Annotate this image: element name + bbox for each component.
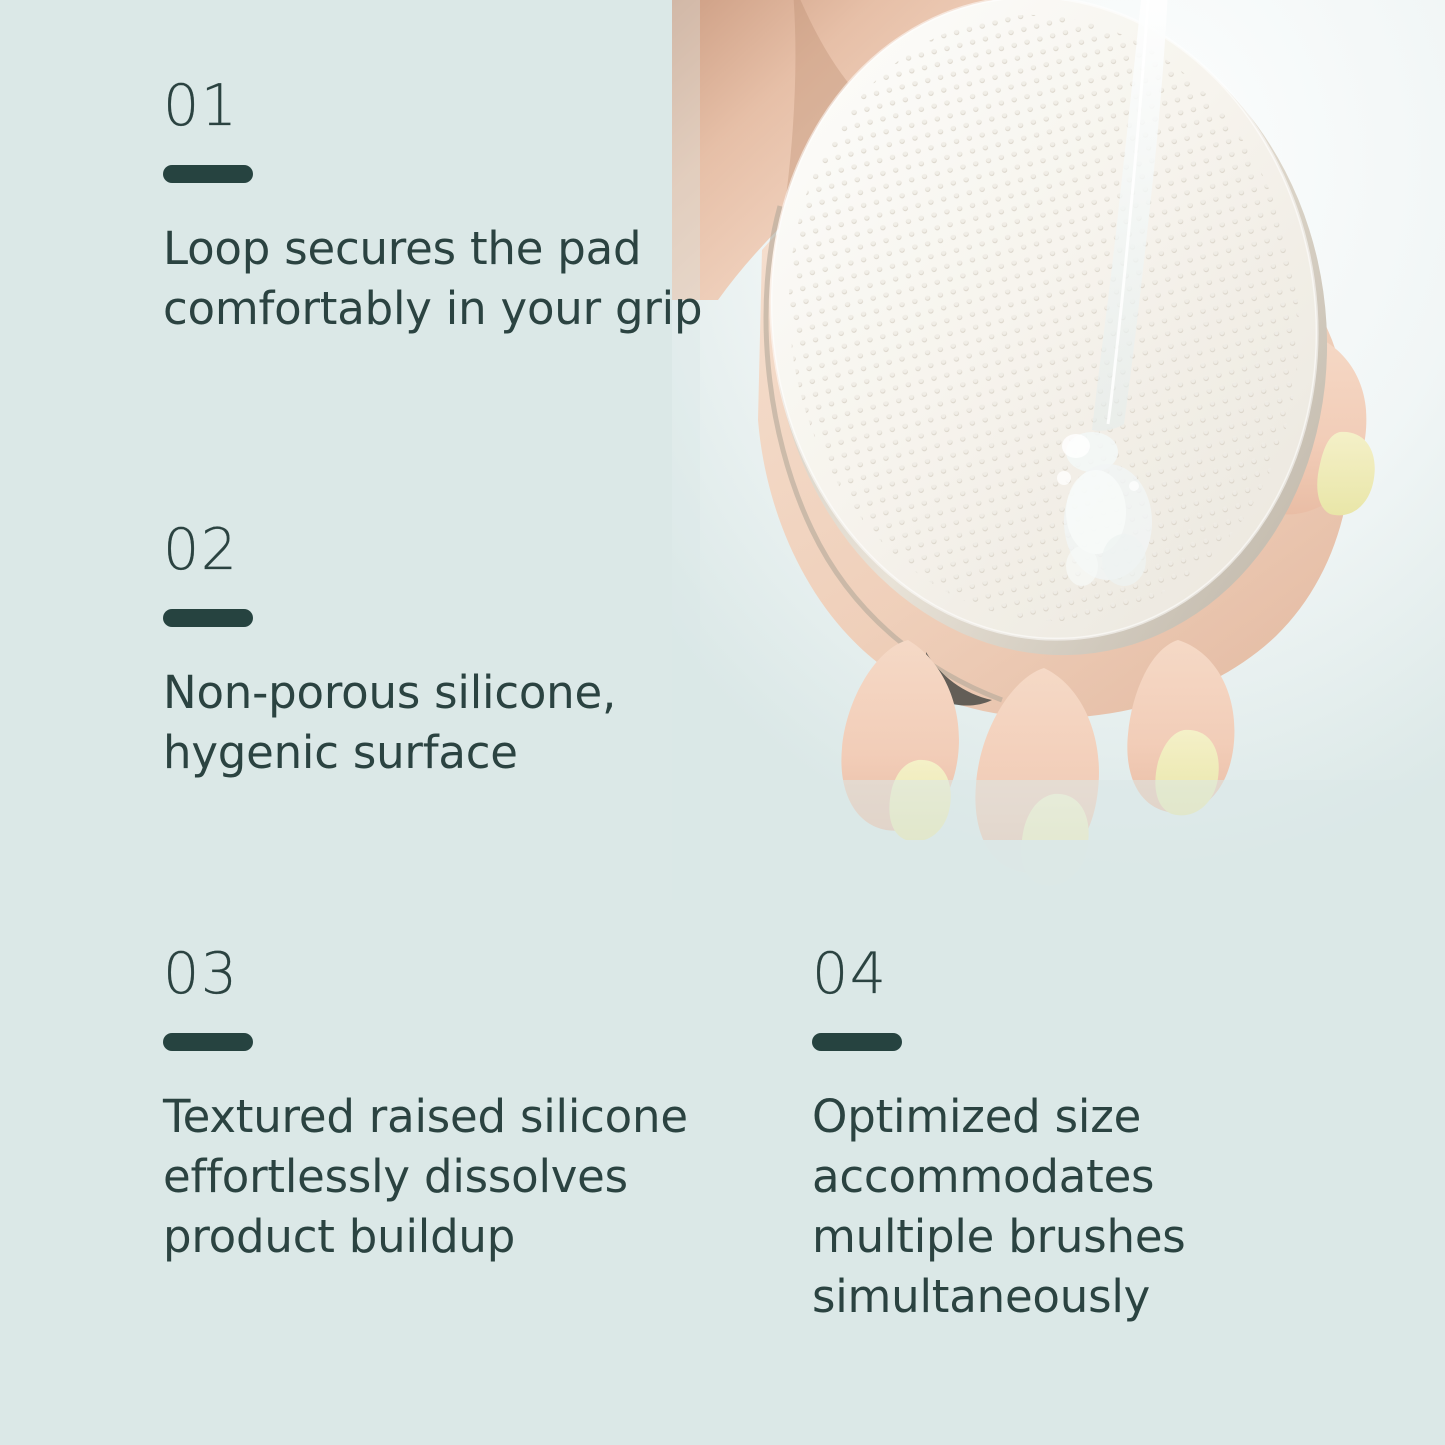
feature-divider-02 bbox=[163, 609, 253, 627]
infographic-canvas: 01 Loop secures the pad comfortably in y… bbox=[0, 0, 1445, 1445]
feature-number-01: 01 bbox=[163, 78, 703, 135]
feature-text-02: Non-porous silicone, hygenic surface bbox=[163, 663, 703, 783]
feature-number-03: 03 bbox=[163, 946, 723, 1003]
product-photo bbox=[672, 0, 1445, 900]
product-photo-illustration bbox=[672, 0, 1445, 900]
feature-text-01: Loop secures the pad comfortably in your… bbox=[163, 219, 703, 339]
feature-block-02: 02 Non-porous silicone, hygenic surface bbox=[163, 522, 703, 783]
feature-text-04: Optimized size accommodates multiple bru… bbox=[812, 1087, 1312, 1326]
feature-text-03: Textured raised silicone effortlessly di… bbox=[163, 1087, 723, 1267]
feature-divider-03 bbox=[163, 1033, 253, 1051]
feature-block-04: 04 Optimized size accommodates multiple … bbox=[812, 946, 1312, 1326]
feature-number-02: 02 bbox=[163, 522, 703, 579]
feature-number-04: 04 bbox=[812, 946, 1312, 1003]
feature-block-01: 01 Loop secures the pad comfortably in y… bbox=[163, 78, 703, 339]
feature-divider-01 bbox=[163, 165, 253, 183]
feature-block-03: 03 Textured raised silicone effortlessly… bbox=[163, 946, 723, 1267]
feature-divider-04 bbox=[812, 1033, 902, 1051]
